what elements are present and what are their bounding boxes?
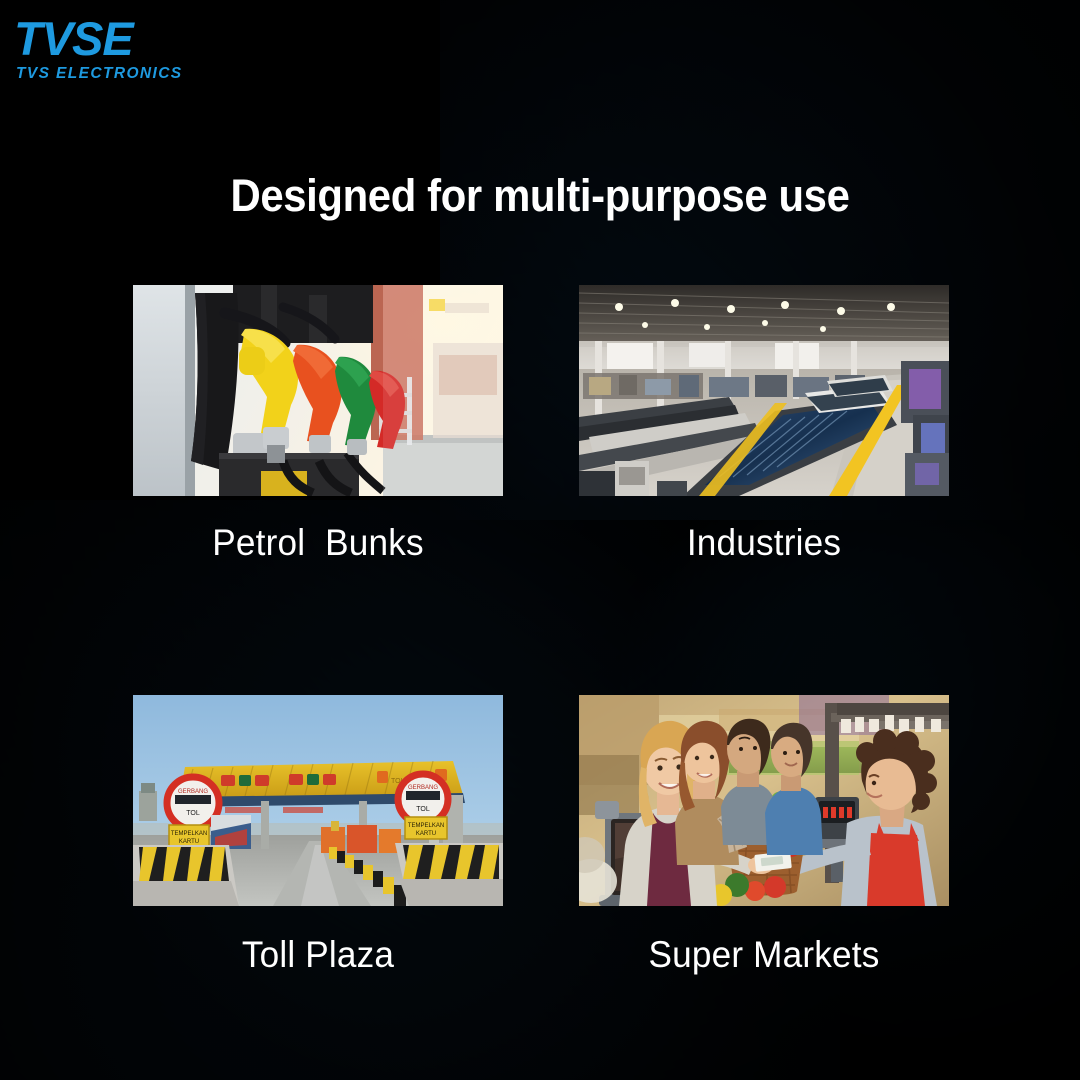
logo-wordmark: TVSE: [14, 16, 183, 62]
grid-item-industries: Industries: [579, 285, 949, 564]
logo-subwordmark: TVS ELECTRONICS: [16, 65, 183, 83]
page-title: Designed for multi-purpose use: [38, 170, 1042, 222]
svg-text:KARTU: KARTU: [179, 839, 199, 845]
grid-item-caption: Toll Plaza: [142, 934, 494, 976]
poster-canvas: TVSE TVS ELECTRONICS Designed for multi-…: [0, 0, 1080, 1080]
grid-item-caption: Petrol Bunks: [142, 522, 494, 564]
use-case-grid: Petrol Bunks: [133, 285, 949, 976]
svg-text:TEMPELKAN: TEMPELKAN: [408, 823, 444, 829]
svg-text:GERBANG: GERBANG: [408, 785, 438, 791]
supermarket-checkout-photo: [579, 695, 949, 906]
petrol-pump-nozzles-photo: [133, 285, 503, 496]
grid-item-toll-plaza: TOL GERBANG TOL: [133, 695, 503, 976]
svg-text:TOL: TOL: [416, 806, 430, 813]
grid-item-petrol-bunks: Petrol Bunks: [133, 285, 503, 564]
grid-item-caption: Industries: [588, 522, 940, 564]
svg-text:KARTU: KARTU: [416, 831, 436, 837]
svg-text:TEMPELKAN: TEMPELKAN: [171, 831, 207, 837]
tvse-logo: TVSE TVS ELECTRONICS: [14, 16, 183, 83]
toll-plaza-gantry-photo: TOL GERBANG TOL: [133, 695, 503, 906]
grid-item-super-markets: Super Markets: [579, 695, 949, 976]
factory-conveyor-line-photo: [579, 285, 949, 496]
svg-text:TOL: TOL: [186, 810, 200, 817]
grid-item-caption: Super Markets: [588, 934, 940, 976]
svg-text:GERBANG: GERBANG: [178, 789, 208, 795]
